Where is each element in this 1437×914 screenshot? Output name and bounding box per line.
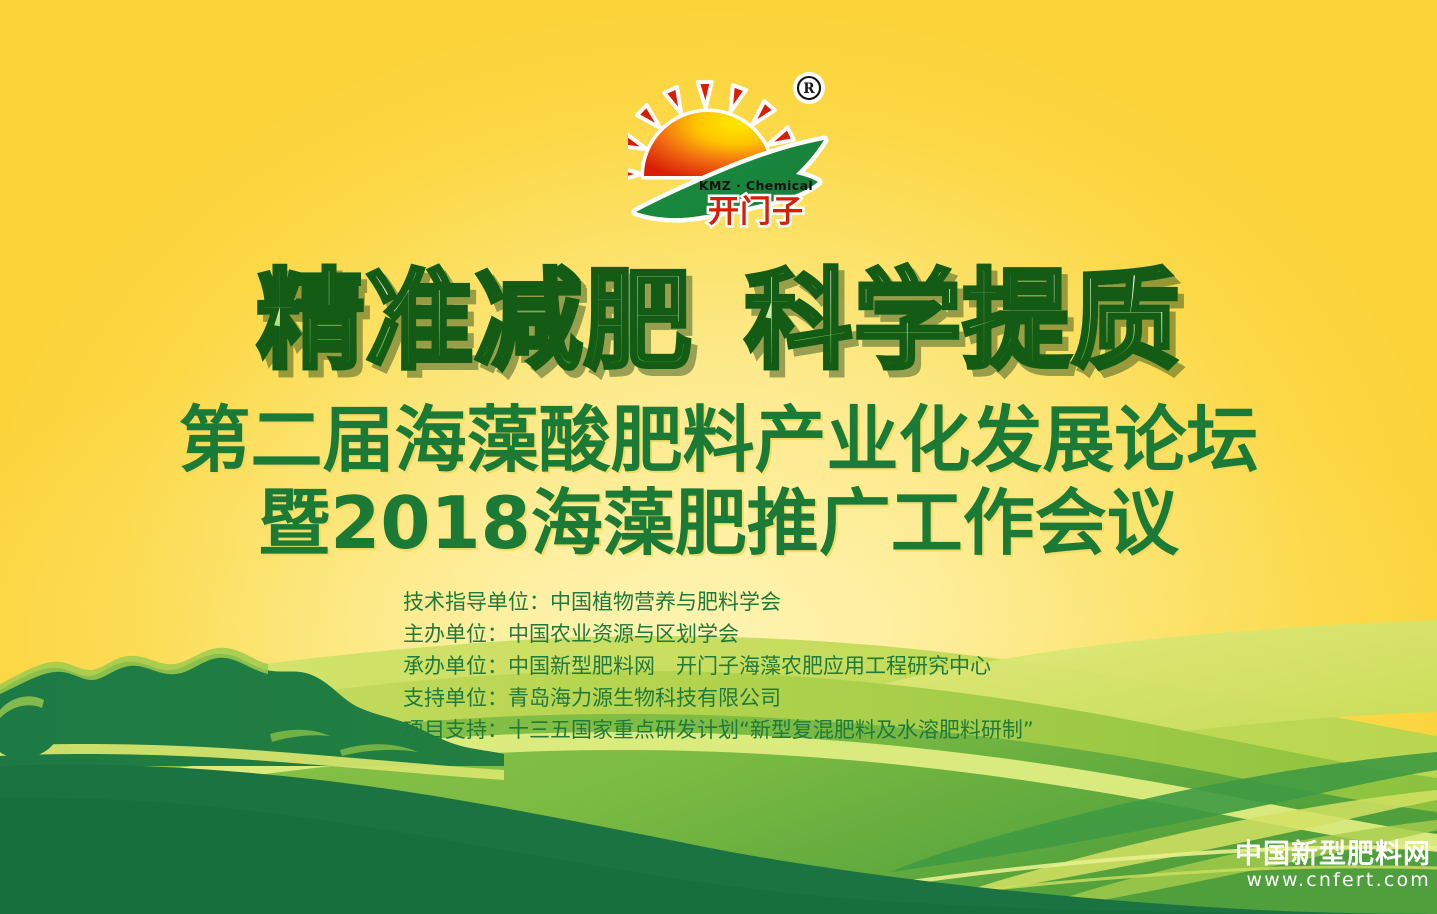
credit-line: 支持单位：青岛海力源生物科技有限公司 [403,682,1163,714]
credit-line: 主办单位：中国农业资源与区划学会 [403,618,1163,650]
logo-latin-name: KMZ · Chemical [699,178,813,193]
subtitle-line-2: 暨2018海藻肥推广工作会议 [0,487,1437,559]
kaimenzi-logo-graphic: R KMZ · Chemical 开门子 [628,62,843,247]
credits-block: 技术指导单位：中国植物营养与肥料学会 主办单位：中国农业资源与区划学会 承办单位… [403,586,1163,746]
logo-chinese-name: 开门子 [708,194,804,230]
headline-part1: 精准减肥 [256,268,692,376]
conference-poster: R KMZ · Chemical 开门子 精准减肥科学提质 第二届海藻酸肥料产业… [0,0,1437,914]
svg-text:R: R [803,81,815,97]
credit-line: 承办单位：中国新型肥料网 开门子海藻农肥应用工程研究中心 [403,650,1163,682]
watermark-site-name: 中国新型肥料网 [1235,840,1431,869]
credit-line: 项目支持：十三五国家重点研发计划“新型复混肥料及水溶肥料研制” [403,714,1163,746]
logo-brand-text: KMZ · Chemical 开门子 [699,178,813,230]
headline-part2: 科学提质 [745,268,1181,376]
subtitle-line-1: 第二届海藻酸肥料产业化发展论坛 [0,404,1437,476]
watermark: 中国新型肥料网 www.cnfert.com [1235,840,1431,892]
headline: 精准减肥科学提质 [0,268,1437,376]
registered-trademark-icon: R [793,72,825,104]
credit-line: 技术指导单位：中国植物营养与肥料学会 [403,586,1163,618]
logo: R KMZ · Chemical 开门子 [628,62,843,247]
watermark-url: www.cnfert.com [1235,869,1431,892]
